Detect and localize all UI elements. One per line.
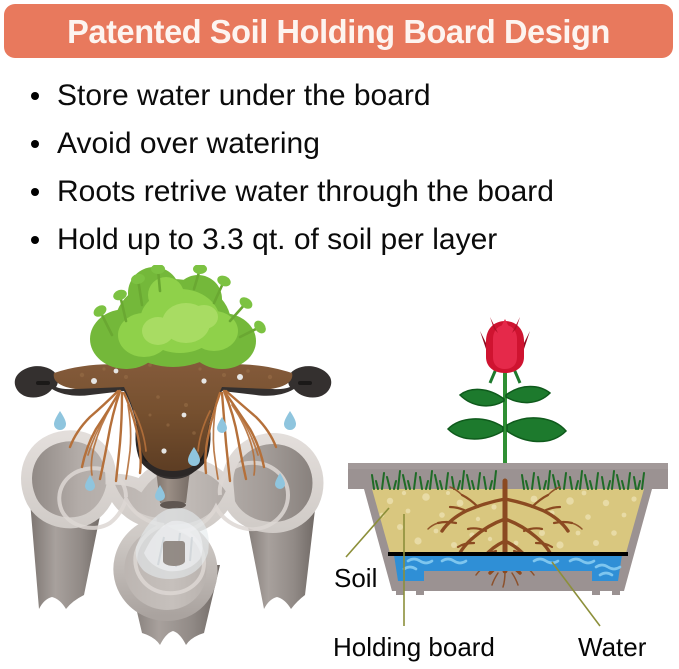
pot-cross-section-diagram	[338, 303, 679, 603]
header-banner: Patented Soil Holding Board Design	[4, 4, 673, 58]
rose-flower-icon	[448, 317, 566, 463]
feature-item: Hold up to 3.3 qt. of soil per layer	[0, 216, 679, 264]
feature-label: Hold up to 3.3 qt. of soil per layer	[57, 223, 497, 256]
feature-item: Avoid over watering	[0, 120, 679, 168]
stacking-planter-cutaway-photo	[8, 265, 338, 655]
callout-label-holding-board: Holding board	[333, 634, 495, 660]
feature-label: Store water under the board	[57, 79, 431, 112]
feature-label: Roots retrive water through the board	[57, 175, 554, 208]
feature-item: Store water under the board	[0, 72, 679, 120]
feature-list: Store water under the board Avoid over w…	[0, 72, 679, 264]
page-title: Patented Soil Holding Board Design	[67, 15, 610, 48]
bullet-point-icon	[31, 188, 39, 196]
illustration-area	[0, 265, 679, 669]
feature-item: Roots retrive water through the board	[0, 168, 679, 216]
bullet-point-icon	[31, 140, 39, 148]
feature-label: Avoid over watering	[57, 127, 320, 160]
callout-label-soil: Soil	[334, 565, 377, 591]
callout-label-water: Water	[578, 634, 646, 660]
bullet-point-icon	[31, 236, 39, 244]
bullet-point-icon	[31, 92, 39, 100]
green-plant	[90, 265, 268, 369]
